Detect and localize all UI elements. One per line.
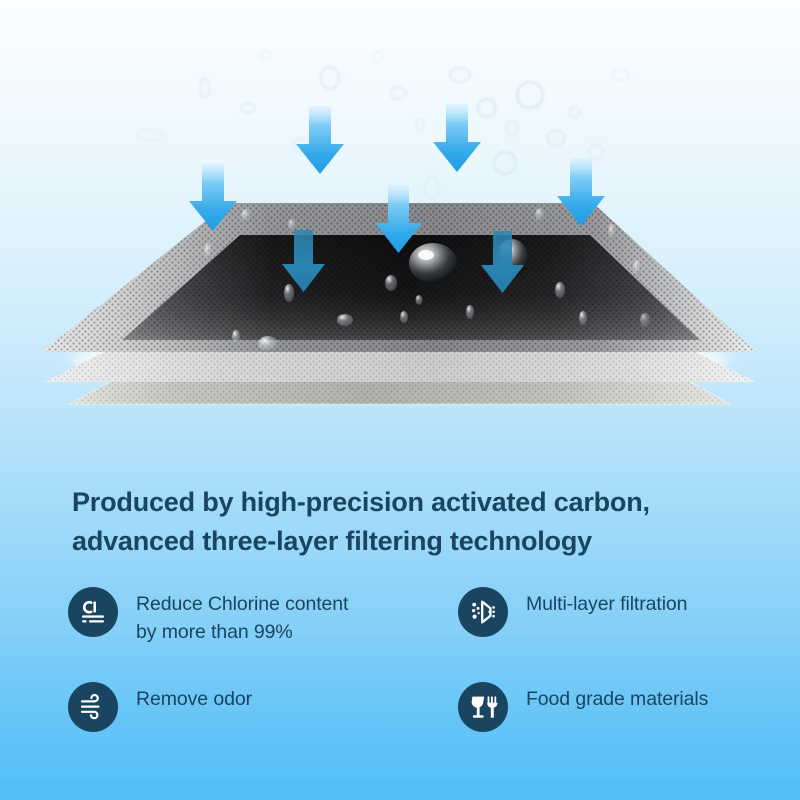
multi-layer-filtration-icon	[468, 597, 498, 627]
feature-line-1: Multi-layer filtration	[526, 591, 687, 619]
feature-line-1: Remove odor	[136, 686, 252, 714]
feature-line-2: by more than 99%	[136, 619, 348, 647]
chlorine-filter-icon	[78, 597, 108, 627]
feature-list: Reduce Chlorine content by more than 99%	[68, 585, 768, 775]
feature-label-multi-layer-filtration: Multi-layer filtration	[526, 585, 687, 619]
arrow-down-2	[296, 106, 344, 174]
page-title: Produced by high-precision activated car…	[72, 483, 732, 561]
product-feature-infographic: Produced by high-precision activated car…	[0, 0, 800, 800]
feature-item-reduce-chlorine: Reduce Chlorine content by more than 99%	[68, 585, 458, 680]
filter-layers-illustration	[0, 0, 800, 440]
feature-label-food-grade-materials: Food grade materials	[526, 680, 708, 714]
headline-line-1: Produced by high-precision activated car…	[72, 483, 732, 522]
feature-line-1: Food grade materials	[526, 686, 708, 714]
remove-odor-wind-icon	[78, 692, 108, 722]
feature-item-food-grade-materials: Food grade materials	[458, 680, 768, 775]
feature-line-1: Reduce Chlorine content	[136, 591, 348, 619]
chlorine-badge	[68, 587, 118, 637]
food-grade-glass-fork-icon	[468, 692, 498, 722]
headline-line-2: advanced three-layer filtering technolog…	[72, 522, 732, 561]
feature-item-multi-layer-filtration: Multi-layer filtration	[458, 585, 768, 680]
multi-layer-badge	[458, 587, 508, 637]
arrow-down-3	[433, 104, 481, 172]
food-grade-badge	[458, 682, 508, 732]
remove-odor-badge	[68, 682, 118, 732]
feature-label-reduce-chlorine: Reduce Chlorine content by more than 99%	[136, 585, 348, 646]
feature-label-remove-odor: Remove odor	[136, 680, 252, 714]
feature-item-remove-odor: Remove odor	[68, 680, 458, 775]
